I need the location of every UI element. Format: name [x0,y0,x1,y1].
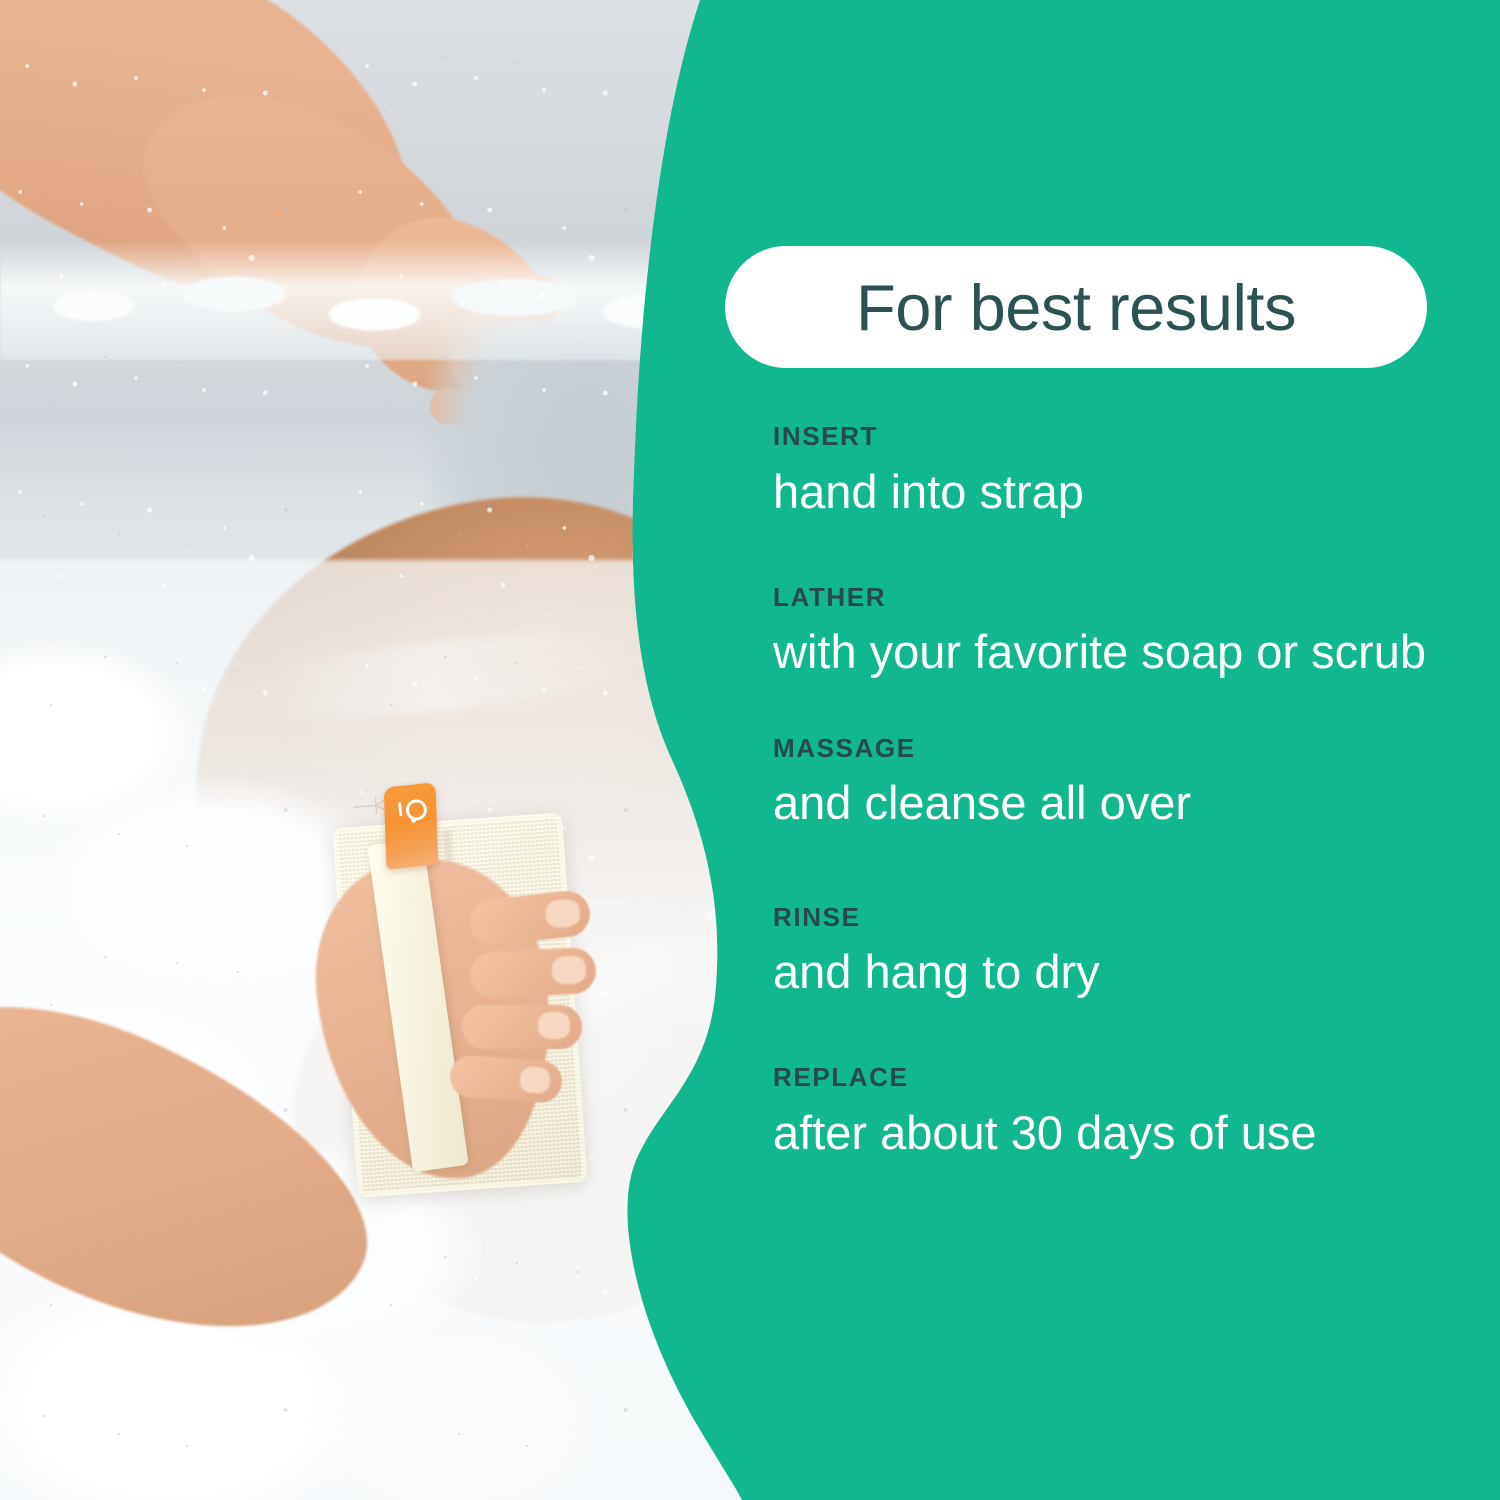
step-text-replace: after about 30 days of use [773,1104,1463,1162]
step-label-rinse: RINSE [773,903,1473,932]
step-text-insert: hand into strap [773,463,1463,521]
step-text-rinse: and hang to dry [773,943,1463,1001]
fingernail [544,898,581,929]
step-text-lather: with your favorite soap or scrub [773,623,1463,681]
finger [449,1054,564,1104]
instruction-step: INSERT hand into strap [773,422,1473,521]
lifestyle-photo [0,0,780,1500]
instruction-step: MASSAGE and cleanse all over [773,734,1473,833]
instruction-step: REPLACE after about 30 days of use [773,1063,1473,1162]
brand-logo-icon [397,799,425,824]
step-label-lather: LATHER [773,583,1473,612]
instruction-step: LATHER with your favorite soap or scrub [773,583,1473,682]
step-label-massage: MASSAGE [773,734,1473,763]
step-label-replace: REPLACE [773,1063,1473,1092]
fingernail [519,1066,551,1094]
step-text-massage: and cleanse all over [773,774,1463,832]
orange-brand-tab [384,782,439,870]
finger [469,947,597,1000]
finger [462,1005,582,1049]
product-instruction-graphic: For best results INSERT hand into strap … [0,0,1500,1500]
page-title: For best results [856,275,1296,340]
instruction-step: RINSE and hang to dry [773,903,1473,1002]
fingernail [551,955,586,985]
step-label-insert: INSERT [773,422,1473,451]
instruction-steps-list: INSERT hand into strap LATHER with your … [773,422,1473,1162]
fingernail [538,1012,570,1039]
title-pill: For best results [725,246,1427,368]
